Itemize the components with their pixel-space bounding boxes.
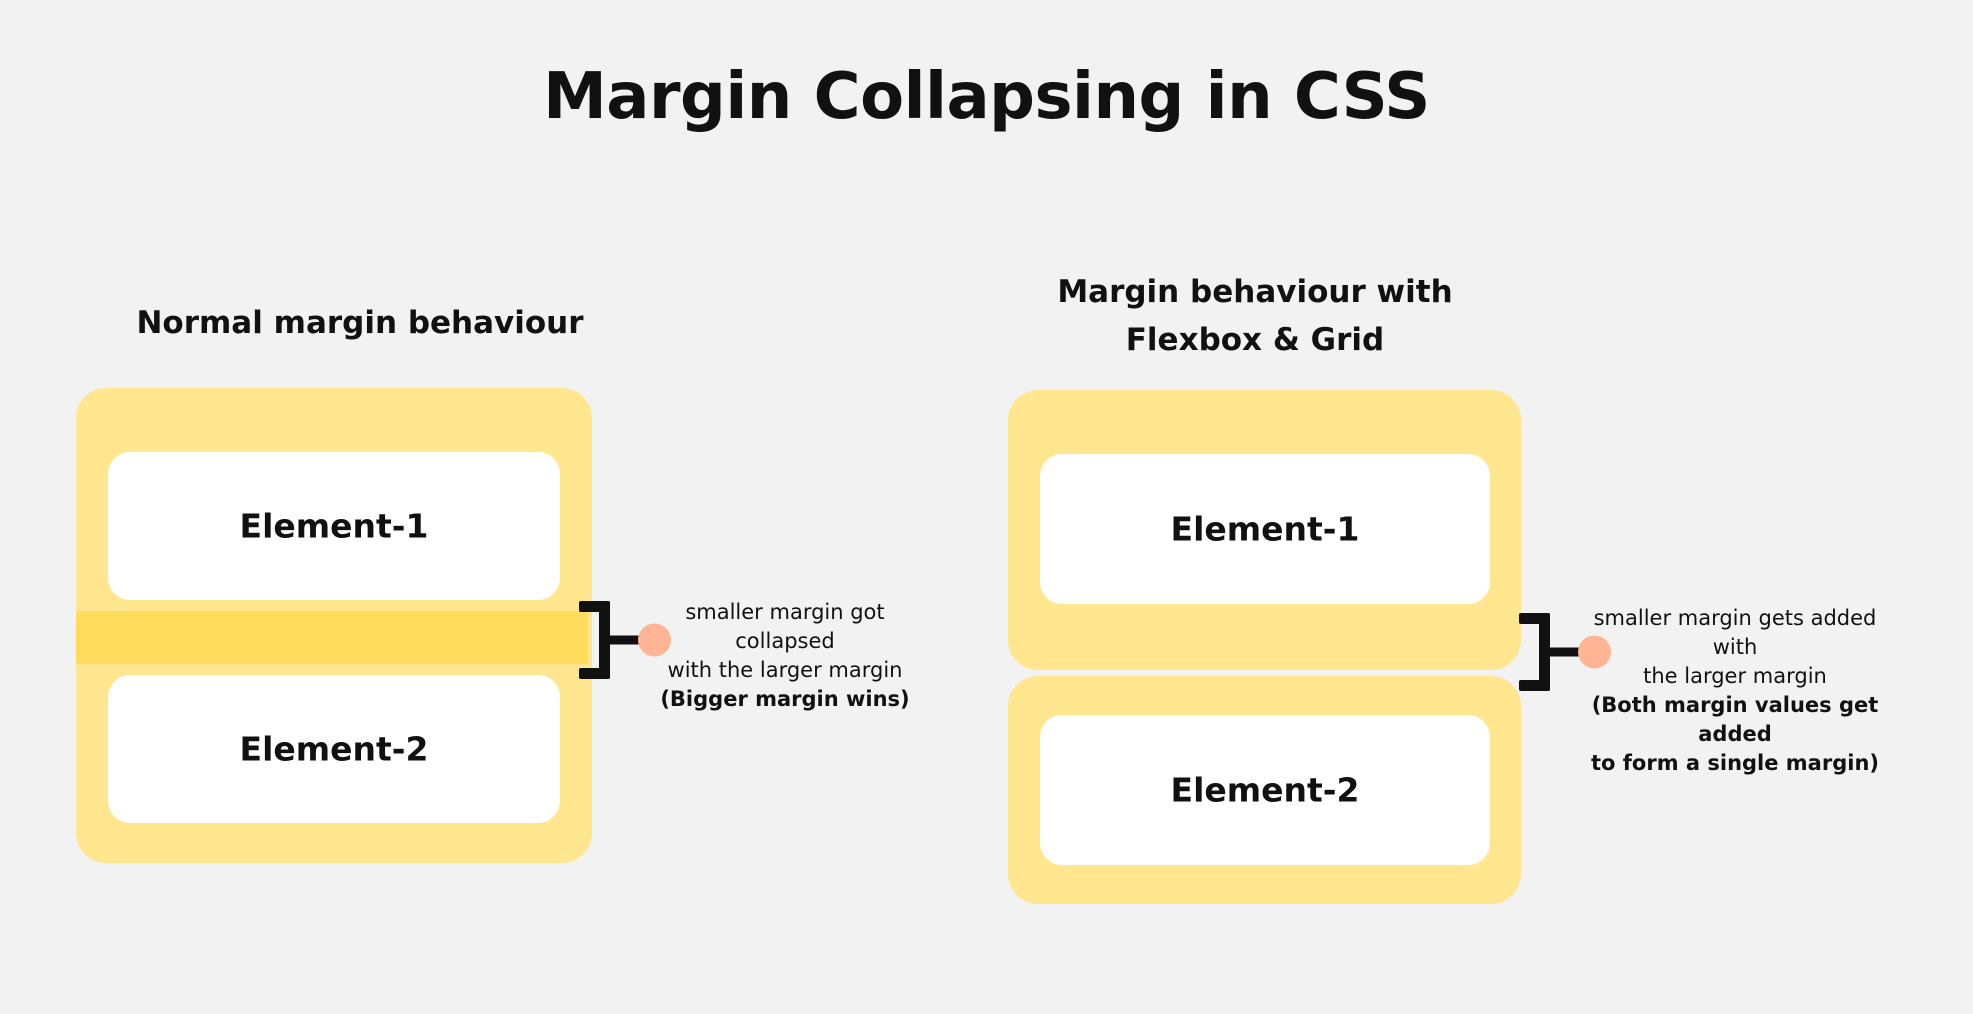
bracket-arm-top bbox=[1519, 613, 1550, 624]
bracket-arm-bottom bbox=[1519, 680, 1550, 691]
right-annotation-line-2: the larger margin bbox=[1580, 662, 1890, 691]
bracket-arm-top bbox=[579, 601, 610, 612]
right-annotation-line-1: smaller margin gets added with bbox=[1580, 604, 1890, 662]
left-annotation: smaller margin got collapsed with the la… bbox=[640, 598, 930, 714]
collapsed-margin-strip bbox=[76, 611, 588, 664]
right-panel-heading: Margin behaviour with Flexbox & Grid bbox=[1000, 268, 1510, 364]
right-annotation: smaller margin gets added with the large… bbox=[1580, 604, 1890, 778]
left-annotation-line-3: (Bigger margin wins) bbox=[640, 685, 930, 714]
right-annotation-line-3: (Both margin values get added bbox=[1580, 691, 1890, 749]
left-annotation-line-1: smaller margin got collapsed bbox=[640, 598, 930, 656]
left-element-1-label: Element-1 bbox=[108, 507, 560, 546]
left-element-2-box: Element-2 bbox=[108, 675, 560, 823]
right-bracket-icon bbox=[1508, 613, 1550, 691]
left-panel-heading: Normal margin behaviour bbox=[40, 305, 680, 341]
right-panel: Margin behaviour with Flexbox & Grid Ele… bbox=[940, 0, 1973, 1014]
bracket-arm-bottom bbox=[579, 668, 610, 679]
right-annotation-line-4: to form a single margin) bbox=[1580, 749, 1890, 778]
left-bracket-icon bbox=[568, 601, 610, 679]
right-element-1-label: Element-1 bbox=[1040, 510, 1490, 549]
right-element-2-box: Element-2 bbox=[1040, 715, 1490, 865]
left-panel: Normal margin behaviour Element-1 Elemen… bbox=[0, 0, 940, 1014]
left-element-2-label: Element-2 bbox=[108, 730, 560, 769]
right-element-2-label: Element-2 bbox=[1040, 771, 1490, 810]
right-parent-container-2: Element-2 bbox=[1008, 676, 1521, 904]
right-panel-heading-line-1: Margin behaviour with bbox=[1000, 268, 1510, 316]
left-element-1-box: Element-1 bbox=[108, 452, 560, 600]
right-parent-container-1: Element-1 bbox=[1008, 390, 1521, 670]
left-annotation-line-2: with the larger margin bbox=[640, 656, 930, 685]
right-panel-heading-line-2: Flexbox & Grid bbox=[1000, 316, 1510, 364]
right-element-1-box: Element-1 bbox=[1040, 454, 1490, 604]
